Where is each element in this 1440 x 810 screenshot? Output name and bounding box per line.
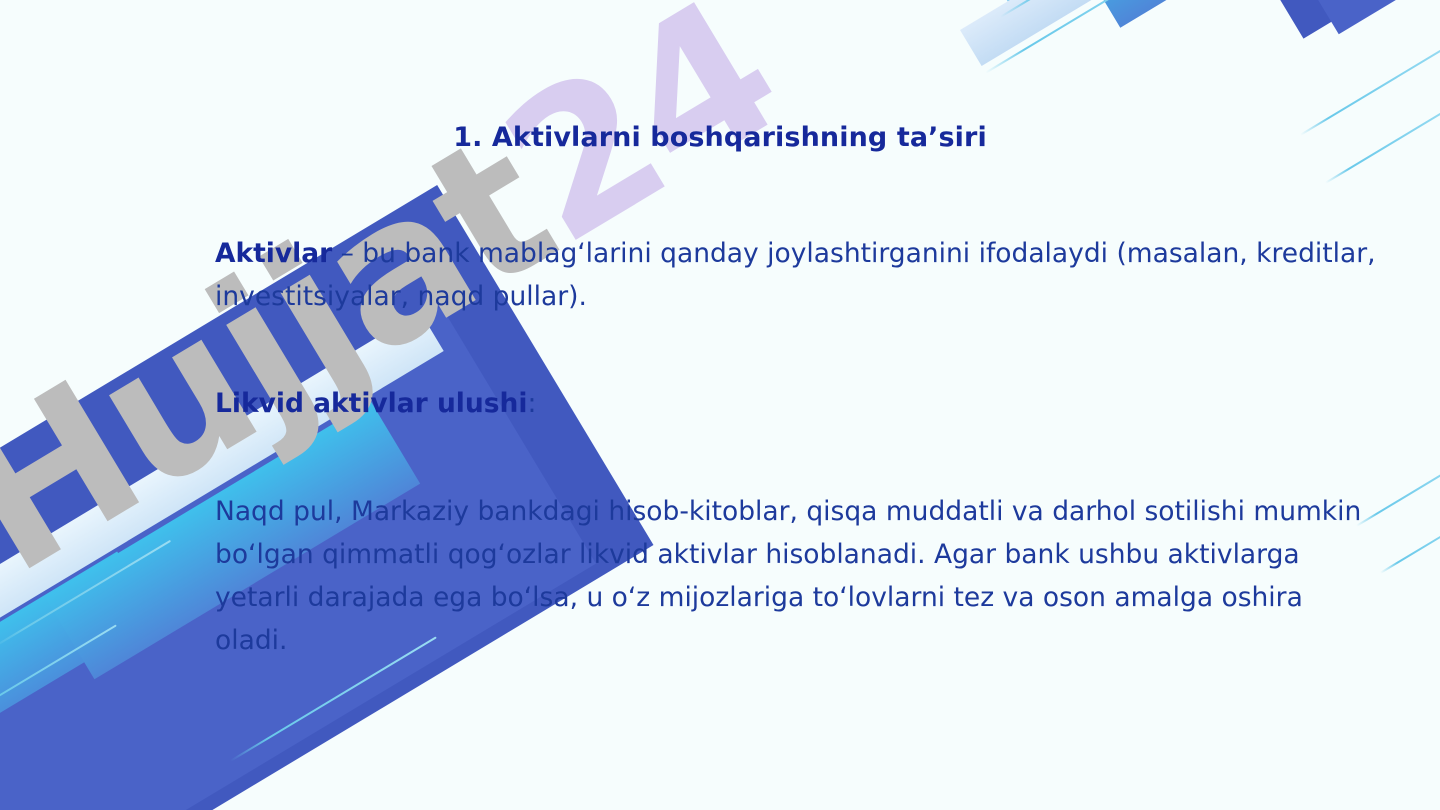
slide-title: 1. Aktivlarni boshqarishning ta’siri xyxy=(0,122,1440,153)
paragraph-assets: Aktivlar – bu bank mablag‘larini qanday … xyxy=(215,232,1380,318)
paragraph-liquid-body: Naqd pul, Markaziy bankdagi hisob-kitobl… xyxy=(215,490,1380,662)
paragraph-liquid-heading-colon: : xyxy=(527,388,536,419)
paragraph-assets-body: – bu bank mablag‘larini qanday joylashti… xyxy=(215,238,1376,312)
paragraph-liquid-heading: Likvid aktivlar ulushi: xyxy=(215,382,1380,425)
paragraph-assets-lead: Aktivlar xyxy=(215,238,332,269)
slide-content: 1. Aktivlarni boshqarishning ta’siri Akt… xyxy=(0,0,1440,810)
paragraph-liquid-heading-lead: Likvid aktivlar ulushi xyxy=(215,388,527,419)
presentation-slide: Hujjat24 1. Aktivlarni boshqarishning ta… xyxy=(0,0,1440,810)
